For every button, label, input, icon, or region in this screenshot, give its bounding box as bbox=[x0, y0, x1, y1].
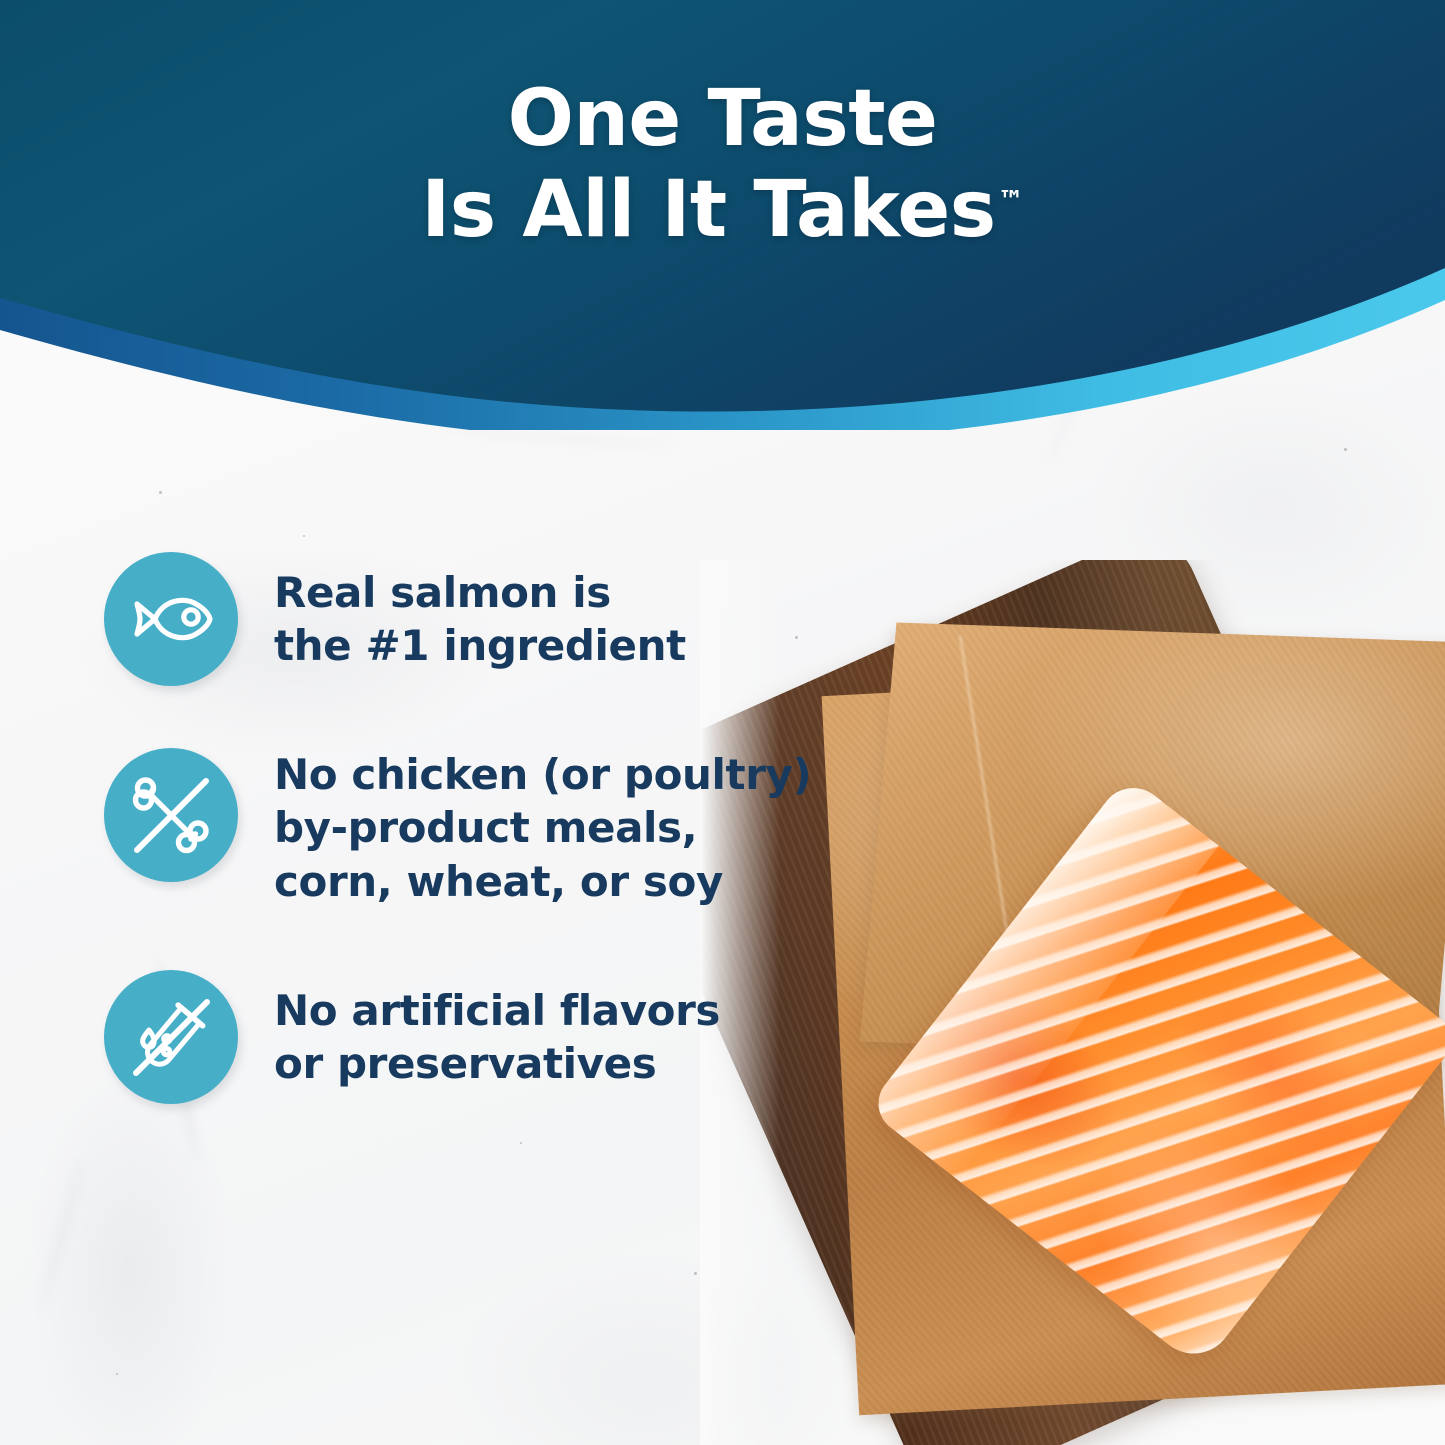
marble-vein bbox=[37, 1158, 85, 1314]
list-item: No chicken (or poultry) by-product meals… bbox=[104, 748, 864, 908]
benefit-text: Real salmon is the #1 ingredient bbox=[274, 552, 686, 673]
no-test-tube-icon bbox=[122, 988, 220, 1086]
fish-icon bbox=[128, 588, 214, 650]
no-test-tube-icon-badge bbox=[104, 970, 238, 1104]
marble-speck bbox=[303, 535, 305, 537]
benefit-line: corn, wheat, or soy bbox=[274, 855, 811, 908]
benefit-line: by-product meals, bbox=[274, 801, 811, 854]
benefits-list: Real salmon is the #1 ingredient bbox=[104, 552, 864, 1104]
promo-banner: One Taste Is All It Takes™ Real salmon i… bbox=[0, 0, 1445, 1445]
benefit-text: No artificial flavors or preservatives bbox=[274, 970, 720, 1091]
no-bone-icon bbox=[122, 766, 220, 864]
marble-vein bbox=[1047, 350, 1098, 464]
marble-speck bbox=[116, 1373, 118, 1375]
marble-speck bbox=[520, 1142, 522, 1144]
marble-speck bbox=[694, 1272, 697, 1275]
no-bone-icon-badge bbox=[104, 748, 238, 882]
marble-vein bbox=[434, 425, 674, 450]
fish-icon-badge bbox=[104, 552, 238, 686]
benefit-line: No chicken (or poultry) bbox=[274, 748, 811, 801]
benefit-text: No chicken (or poultry) by-product meals… bbox=[274, 748, 811, 908]
benefit-line: the #1 ingredient bbox=[274, 619, 686, 672]
benefit-line: No artificial flavors bbox=[274, 984, 720, 1037]
benefit-line: or preservatives bbox=[274, 1037, 720, 1090]
list-item: Real salmon is the #1 ingredient bbox=[104, 552, 864, 686]
marble-speck bbox=[1344, 448, 1347, 451]
list-item: No artificial flavors or preservatives bbox=[104, 970, 864, 1104]
benefit-line: Real salmon is bbox=[274, 566, 686, 619]
marble-speck bbox=[159, 491, 162, 494]
